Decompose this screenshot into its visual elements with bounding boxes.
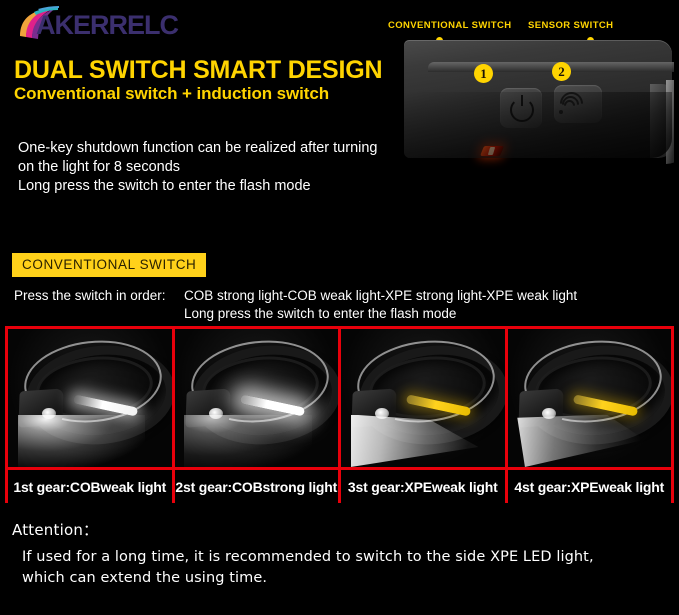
gear-caption-2: 2st gear:COBstrong light bbox=[175, 470, 342, 503]
callout-2-number-badge: 2 bbox=[552, 62, 571, 81]
headband-housing bbox=[518, 388, 563, 427]
sensor-wave-icon bbox=[562, 98, 578, 114]
callout-1-number-badge: 1 bbox=[474, 64, 493, 83]
status-badge: CONVENTIONAL SWITCH bbox=[12, 253, 206, 277]
callout-1-label: CONVENTIONAL SWITCH bbox=[388, 20, 512, 31]
headlamp-body bbox=[404, 40, 672, 158]
gear-image-1 bbox=[8, 329, 175, 467]
xpe-lens-icon bbox=[42, 408, 56, 419]
gear-caption-3: 3st gear:XPEweak light bbox=[341, 470, 508, 503]
brand-logo: AKERRELC bbox=[14, 6, 194, 46]
attention-body: If used for a long time, it is recommend… bbox=[22, 547, 662, 589]
press-order-label: Press the switch in order: bbox=[14, 288, 166, 303]
xpe-lens-icon bbox=[375, 408, 389, 419]
intro-line-3: Long press the switch to enter the flash… bbox=[18, 177, 378, 196]
brand-name: AKERRELC bbox=[36, 10, 178, 40]
gear-caption-row: 1st gear:COBweak light 2st gear:COBstron… bbox=[8, 467, 671, 503]
press-order-note: Long press the switch to enter the flash… bbox=[184, 306, 456, 321]
attention-line-2: which can extend the using time. bbox=[22, 568, 662, 589]
power-icon bbox=[510, 98, 534, 122]
headlamp-top-edge bbox=[428, 62, 674, 72]
callout-2-label: SENSOR SWITCH bbox=[528, 20, 613, 31]
gear-panel-grid: 1st gear:COBweak light 2st gear:COBstron… bbox=[5, 326, 674, 503]
sensor-button-pad[interactable] bbox=[554, 85, 602, 123]
headband-illustration-1 bbox=[8, 329, 172, 467]
headband-illustration-3 bbox=[341, 329, 505, 467]
gear-caption-1: 1st gear:COBweak light bbox=[8, 470, 175, 503]
xpe-lens-icon bbox=[542, 408, 556, 419]
gear-image-row bbox=[8, 329, 671, 467]
sensor-wave-dot-icon bbox=[559, 110, 563, 114]
headband-housing bbox=[185, 388, 230, 427]
gear-image-2 bbox=[175, 329, 342, 467]
press-order-value: COB strong light-COB weak light-XPE stro… bbox=[184, 288, 577, 303]
page-title: DUAL SWITCH SMART DESIGN bbox=[14, 56, 382, 85]
gear-image-4 bbox=[508, 329, 672, 467]
infographic-page: AKERRELC DUAL SWITCH SMART DESIGN Conven… bbox=[0, 0, 679, 615]
product-photo: CONVENTIONAL SWITCH SENSOR SWITCH 1 2 bbox=[382, 12, 674, 178]
intro-line-2: on the light for 8 seconds bbox=[18, 158, 378, 177]
sensor-wave-icon-mid bbox=[558, 92, 582, 116]
headband-housing bbox=[19, 388, 64, 427]
sensor-wave-icon-outer bbox=[555, 87, 588, 120]
headlamp-strap bbox=[666, 80, 674, 164]
headband-housing bbox=[352, 388, 397, 427]
page-subtitle: Conventional switch + induction switch bbox=[14, 84, 329, 104]
intro-copy: One-key shutdown function can be realize… bbox=[18, 139, 378, 196]
attention-line-1: If used for a long time, it is recommend… bbox=[22, 547, 662, 568]
gear-caption-4: 4st gear:XPEweak light bbox=[508, 470, 672, 503]
intro-line-1: One-key shutdown function can be realize… bbox=[18, 139, 378, 158]
gear-image-3 bbox=[341, 329, 508, 467]
power-button-pad[interactable] bbox=[500, 88, 542, 128]
headband-illustration-4 bbox=[508, 329, 672, 467]
attention-title: Attention： bbox=[12, 519, 98, 540]
headband-illustration-2 bbox=[175, 329, 339, 467]
xpe-lens-icon bbox=[209, 408, 223, 419]
red-led-indicator-icon bbox=[480, 146, 504, 156]
